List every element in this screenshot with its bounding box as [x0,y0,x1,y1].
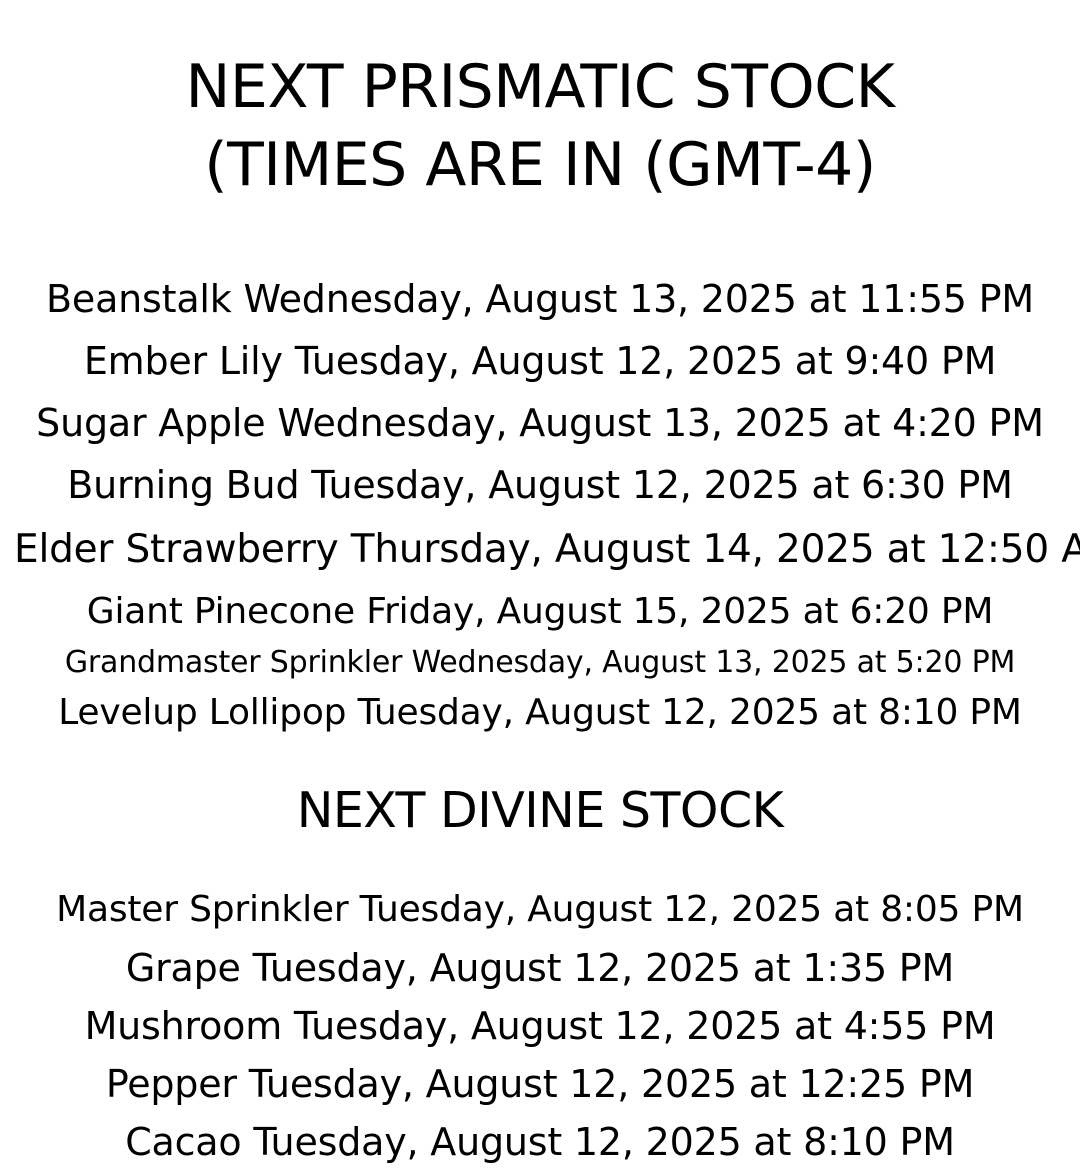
stock-entry: Ember Lily Tuesday, August 12, 2025 at 9… [14,330,1066,392]
stock-entry: Cacao Tuesday, August 12, 2025 at 8:10 P… [14,1113,1066,1171]
stock-entry: Grandmaster Sprinkler Wednesday, August … [14,640,1066,685]
stock-entry: Master Sprinkler Tuesday, August 12, 202… [14,881,1066,939]
stock-entry: Levelup Lollipop Tuesday, August 12, 202… [14,685,1066,741]
stock-announcement-page: NEXT PRISMATIC STOCK (TIMES ARE IN (GMT-… [0,0,1080,1080]
prismatic-stock-list: Beanstalk Wednesday, August 13, 2025 at … [14,268,1066,741]
stock-entry: Mushroom Tuesday, August 12, 2025 at 4:5… [14,997,1066,1055]
page-title: NEXT PRISMATIC STOCK (TIMES ARE IN (GMT-… [14,48,1066,204]
divine-stock-list: Master Sprinkler Tuesday, August 12, 202… [14,881,1066,1171]
stock-entry: Elder Strawberry Thursday, August 14, 20… [14,516,1066,584]
stock-entry: Grape Tuesday, August 12, 2025 at 1:35 P… [14,939,1066,997]
stock-entry: Pepper Tuesday, August 12, 2025 at 12:25… [14,1055,1066,1113]
section-title-divine: NEXT DIVINE STOCK [14,782,1066,840]
page-title-line-1: NEXT PRISMATIC STOCK [14,48,1066,126]
page-title-line-2: (TIMES ARE IN (GMT-4) [14,126,1066,204]
stock-entry: Giant Pinecone Friday, August 15, 2025 a… [14,584,1066,640]
stock-entry: Sugar Apple Wednesday, August 13, 2025 a… [14,392,1066,454]
stock-entry: Burning Bud Tuesday, August 12, 2025 at … [14,454,1066,516]
stock-entry: Beanstalk Wednesday, August 13, 2025 at … [14,268,1066,330]
